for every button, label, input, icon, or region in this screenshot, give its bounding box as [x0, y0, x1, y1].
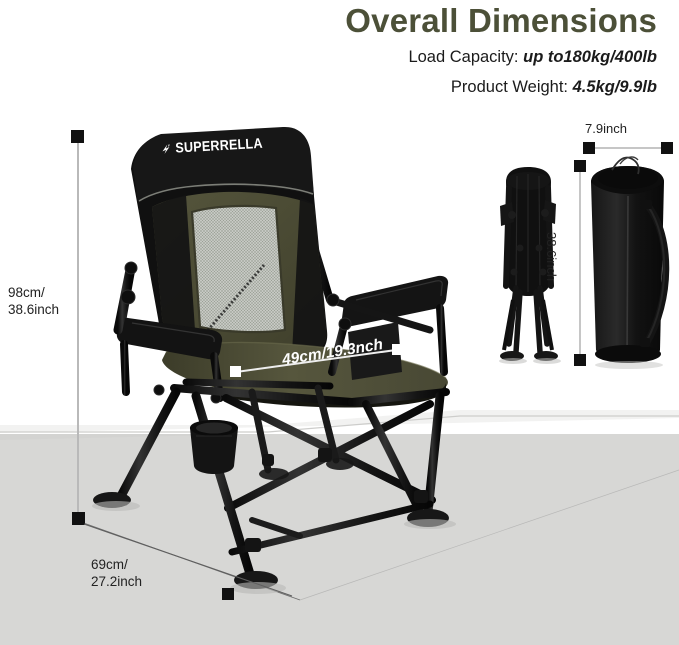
spec-load-capacity: Load Capacity: up to180kg/400lb [408, 48, 657, 67]
chair-depth-line2: 27.2inch [91, 573, 142, 590]
dimension-marker [583, 142, 595, 154]
chair-depth-label: 69cm/ 27.2inch [91, 556, 142, 590]
chair-height-label: 98cm/ 38.6inch [8, 284, 59, 318]
spec-value: 4.5kg/9.9lb [573, 78, 657, 96]
page-title: Overall Dimensions [345, 2, 657, 40]
chair-height-line2: 38.6inch [8, 301, 59, 318]
dimension-marker [230, 366, 241, 377]
spec-value: up to180kg/400lb [523, 48, 657, 66]
dimension-marker [222, 588, 234, 600]
infographic-page: Overall Dimensions Load Capacity: up to1… [0, 0, 679, 645]
spec-product-weight: Product Weight: 4.5kg/9.9lb [451, 78, 657, 97]
dimension-marker [574, 354, 586, 366]
dimension-marker [392, 344, 403, 355]
chair-height-line1: 98cm/ [8, 284, 59, 301]
spec-label: Load Capacity: [408, 48, 518, 66]
bag-width-label: 7.9inch [585, 120, 627, 137]
chair-depth-line1: 69cm/ [91, 556, 142, 573]
dimension-marker [574, 160, 586, 172]
dimension-marker [72, 512, 85, 525]
dimension-marker [661, 142, 673, 154]
spec-label: Product Weight: [451, 78, 568, 96]
bag-height-label: 38.6inch [543, 232, 560, 281]
dimension-marker [71, 130, 84, 143]
lightning-bolt-icon [160, 142, 174, 156]
header: Overall Dimensions Load Capacity: up to1… [0, 0, 679, 110]
